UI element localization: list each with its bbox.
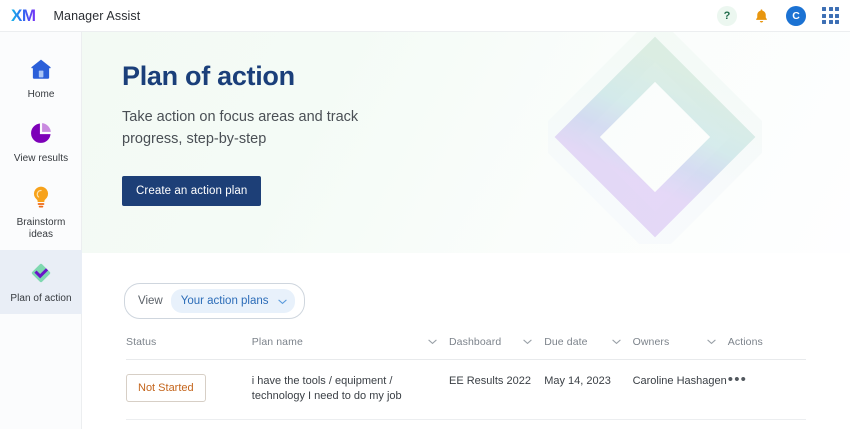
table-body: Not Started i have the tools / equipment… [126, 360, 806, 420]
column-label: Dashboard [449, 336, 501, 348]
cell-plan-name[interactable]: i have the tools / equipment / technolog… [252, 360, 449, 420]
column-header-due-date[interactable]: Due date [544, 336, 632, 360]
cell-dashboard: EE Results 2022 [449, 360, 544, 420]
create-action-plan-button[interactable]: Create an action plan [122, 176, 261, 206]
hero-banner: Plan of action Take action on focus area… [82, 32, 850, 253]
sidebar: Home View results Brainstorm ideas [0, 32, 82, 429]
table-header: Status Plan name Dashboard [126, 336, 806, 360]
page-subtitle: Take action on focus areas and track pro… [122, 106, 422, 150]
help-circle-icon[interactable]: ? [717, 6, 737, 26]
action-plans-table: Status Plan name Dashboard [126, 336, 806, 420]
help-icon-label: ? [724, 10, 731, 22]
table-header-row: Status Plan name Dashboard [126, 336, 806, 360]
cell-owners: Caroline Hashagen [633, 360, 728, 420]
column-label: Status [126, 336, 156, 348]
column-header-dashboard[interactable]: Dashboard [449, 336, 544, 360]
sidebar-item-label: Plan of action [10, 293, 71, 305]
top-bar-actions: ? C [717, 6, 839, 26]
chevron-down-icon[interactable] [523, 336, 532, 348]
column-label: Owners [633, 336, 670, 348]
view-filter-selected-value: Your action plans [181, 295, 269, 307]
top-bar: XM Manager Assist ? C [0, 0, 850, 32]
chevron-down-icon [278, 292, 287, 310]
sidebar-item-home[interactable]: Home [0, 46, 82, 110]
column-label: Actions [728, 336, 763, 348]
column-header-status: Status [126, 336, 252, 360]
cell-due-date: May 14, 2023 [544, 360, 632, 420]
diamond-check-icon [28, 260, 54, 286]
cell-actions: ••• [728, 360, 806, 420]
home-icon [28, 56, 54, 82]
view-filter-selected-chip[interactable]: Your action plans [171, 289, 295, 313]
chevron-down-icon[interactable] [428, 336, 437, 348]
sidebar-item-label: Brainstorm ideas [4, 217, 78, 241]
chevron-down-icon[interactable] [707, 336, 716, 348]
action-plans-table-container: Status Plan name Dashboard [82, 319, 850, 420]
hero-text-block: Plan of action Take action on focus area… [82, 32, 850, 206]
column-header-actions: Actions [728, 336, 806, 360]
avatar-initial: C [792, 10, 800, 22]
sidebar-item-label: View results [14, 153, 68, 165]
sidebar-item-plan-of-action[interactable]: Plan of action [0, 250, 82, 314]
cell-status: Not Started [126, 360, 252, 420]
view-filter-label: View [138, 295, 163, 307]
page-title: Plan of action [122, 60, 850, 92]
view-filter-dropdown[interactable]: View Your action plans [124, 283, 305, 319]
column-label: Plan name [252, 336, 303, 348]
chevron-down-icon[interactable] [612, 336, 621, 348]
kebab-menu-icon[interactable]: ••• [728, 371, 747, 388]
sidebar-item-view-results[interactable]: View results [0, 110, 82, 174]
main-content: Plan of action Take action on focus area… [82, 32, 850, 429]
xm-logo[interactable]: XM [11, 7, 36, 24]
column-label: Due date [544, 336, 587, 348]
status-badge: Not Started [126, 374, 206, 402]
filter-bar: View Your action plans [82, 253, 850, 319]
app-title: Manager Assist [54, 9, 141, 23]
sidebar-item-label: Home [28, 89, 55, 101]
column-header-plan-name[interactable]: Plan name [252, 336, 449, 360]
lightbulb-icon [28, 184, 54, 210]
notification-bell-icon[interactable] [753, 7, 770, 25]
avatar[interactable]: C [786, 6, 806, 26]
column-header-owners[interactable]: Owners [633, 336, 728, 360]
sidebar-item-brainstorm-ideas[interactable]: Brainstorm ideas [0, 174, 82, 250]
pie-chart-icon [28, 120, 54, 146]
app-launcher-grid-icon[interactable] [822, 7, 839, 24]
table-row[interactable]: Not Started i have the tools / equipment… [126, 360, 806, 420]
